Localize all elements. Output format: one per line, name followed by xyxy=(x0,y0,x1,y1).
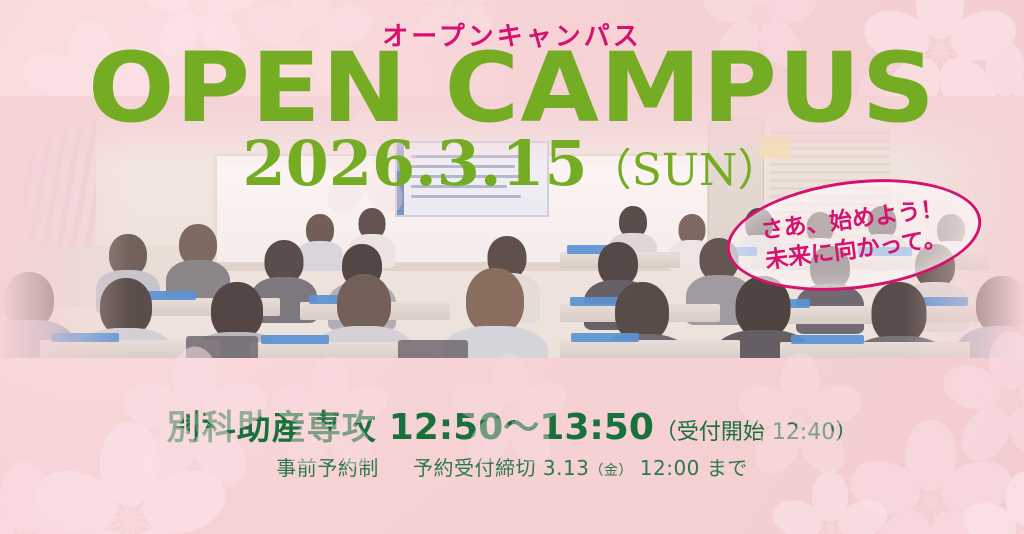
schedule-time: 12:50〜13:50 xyxy=(389,407,654,448)
reservation-line: 事前予約制 予約受付締切 3.13（金） 12:00 まで xyxy=(0,452,1024,481)
open-campus-poster: オープンキャンパス OPEN CAMPUS 2026.3.15（SUN） さあ、… xyxy=(0,0,1024,534)
reservation-deadline-time: 12:00 まで xyxy=(640,456,748,480)
reservation-deadline-date: 3.13 xyxy=(543,456,590,480)
schedule-major: 別科助産専攻 xyxy=(167,408,377,448)
schedule-line: 別科助産専攻12:50〜13:50（受付開始 12:40） xyxy=(0,398,1024,450)
event-date-value: 2026.3.15 xyxy=(243,127,588,200)
reservation-policy: 事前予約制 xyxy=(276,456,379,480)
event-day-of-week: （SUN） xyxy=(588,145,782,196)
schedule-reception: （受付開始 12:40） xyxy=(655,420,857,445)
reservation-deadline-dow: （金） xyxy=(589,463,633,479)
reservation-deadline-label: 予約受付締切 xyxy=(413,456,536,480)
page-title: OPEN CAMPUS xyxy=(0,40,1024,136)
